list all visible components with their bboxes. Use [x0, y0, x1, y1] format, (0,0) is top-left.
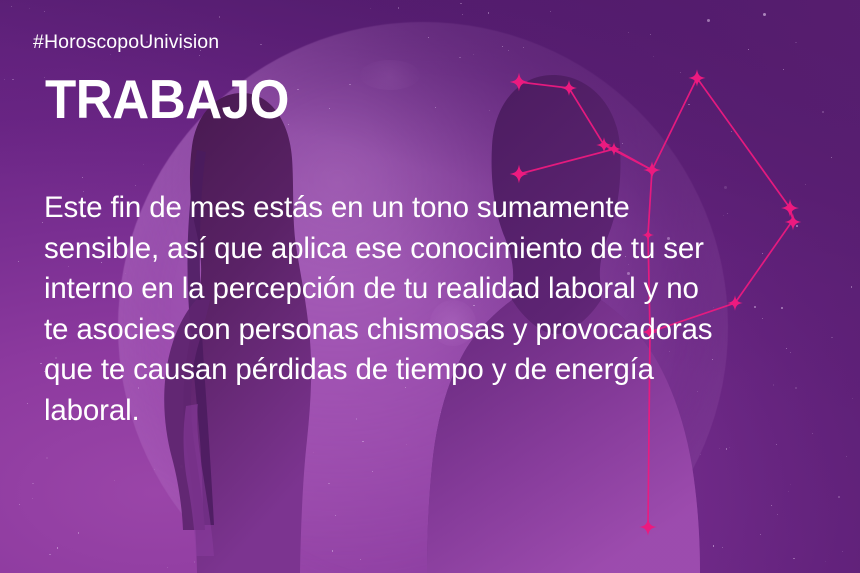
- horoscope-card: #HoroscopoUnivision TRABAJO Este fin de …: [0, 0, 860, 573]
- page-title: TRABAJO: [45, 72, 289, 127]
- body-text-line: que te causan pérdidas de tiempo y de en…: [44, 350, 814, 391]
- body-text-line: te asocies con personas chismosas y prov…: [44, 310, 814, 351]
- body-text-line: interno en la percepción de tu realidad …: [44, 269, 814, 310]
- body-text-line: sensible, así que aplica ese conocimient…: [44, 229, 814, 270]
- hashtag-label: #HoroscopoUnivision: [33, 31, 219, 54]
- body-text-line: Este fin de mes estás en un tono sumamen…: [44, 188, 814, 229]
- body-text-line: laboral.: [44, 391, 814, 432]
- horoscope-body-text: Este fin de mes estás en un tono sumamen…: [44, 188, 814, 431]
